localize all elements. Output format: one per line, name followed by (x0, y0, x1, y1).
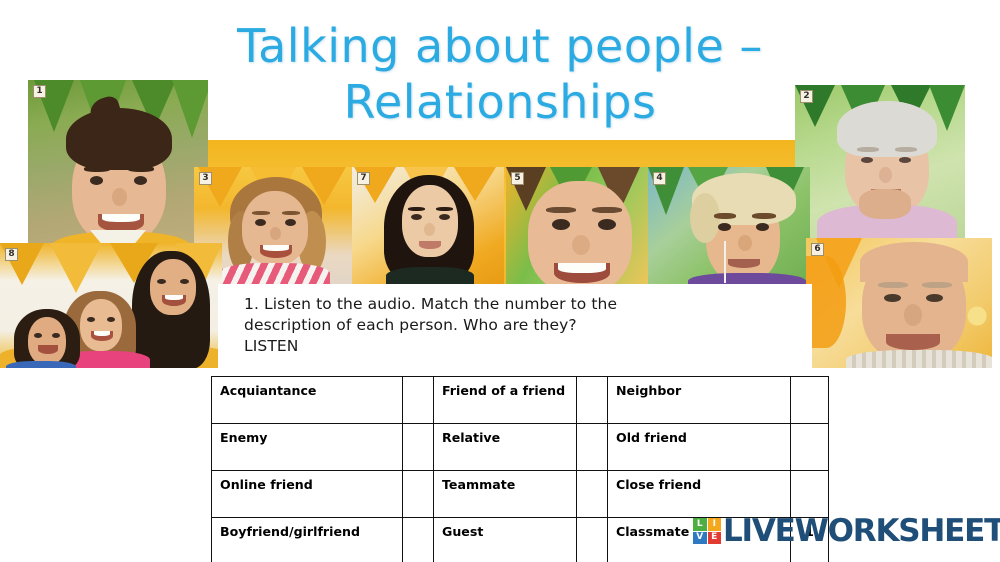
answer-cell[interactable] (791, 471, 829, 518)
answer-cell[interactable] (791, 424, 829, 471)
logo-letter-v: V (693, 532, 707, 545)
answer-cell[interactable] (577, 377, 608, 424)
logo-letter-e: E (708, 532, 722, 545)
person-face (648, 167, 810, 285)
term-cell: Teammate (434, 471, 577, 518)
person-face (352, 167, 504, 285)
answer-cell[interactable] (403, 518, 434, 562)
table-row: Acquiantance Friend of a friend Neighbor (212, 377, 829, 424)
photo-tile-8: 8 (0, 243, 222, 368)
page-title-line-2: Relationships (150, 74, 850, 130)
liveworksheets-logo-icon: L I V E (693, 518, 721, 544)
term-cell: Friend of a friend (434, 377, 577, 424)
term-cell: Acquiantance (212, 377, 403, 424)
photo-badge-6: 6 (811, 243, 824, 256)
answer-cell[interactable] (577, 471, 608, 518)
term-cell: Online friend (212, 471, 403, 518)
term-cell: Enemy (212, 424, 403, 471)
instruction-line-1: 1. Listen to the audio. Match the number… (244, 294, 812, 315)
answer-cell[interactable] (403, 424, 434, 471)
instruction-line-3: LISTEN (244, 336, 812, 357)
logo-letter-i: I (708, 518, 722, 531)
term-cell: Close friend (608, 471, 791, 518)
answer-cell[interactable] (791, 377, 829, 424)
table-row: Online friend Teammate Close friend (212, 471, 829, 518)
photo-tile-4: 4 (648, 167, 810, 285)
answer-cell[interactable] (403, 471, 434, 518)
instruction-panel: 1. Listen to the audio. Match the number… (218, 284, 812, 368)
term-cell: Guest (434, 518, 577, 562)
person-face (506, 167, 648, 285)
page-title: Talking about people – Relationships (150, 18, 850, 130)
photo-tile-5: 5 (506, 167, 648, 285)
person-face (806, 238, 992, 368)
photo-badge-5: 5 (511, 172, 524, 185)
logo-letter-l: L (693, 518, 707, 531)
photo-badge-7: 7 (357, 172, 370, 185)
photo-badge-4: 4 (653, 172, 666, 185)
photo-badge-1: 1 (33, 85, 46, 98)
table-row: Enemy Relative Old friend (212, 424, 829, 471)
photo-tile-7: 7 (352, 167, 504, 285)
photo-badge-3: 3 (199, 172, 212, 185)
person-group (0, 243, 222, 368)
answer-cell[interactable] (577, 424, 608, 471)
answer-cell[interactable] (403, 377, 434, 424)
term-cell: Neighbor (608, 377, 791, 424)
term-cell: Boyfriend/girlfriend (212, 518, 403, 562)
photo-tile-6: 6 (806, 238, 992, 368)
instruction-line-2: description of each person. Who are they… (244, 315, 812, 336)
answer-cell[interactable] (577, 518, 608, 562)
worksheet-page: Talking about people – Relationships 1 (0, 0, 1000, 562)
term-cell: Old friend (608, 424, 791, 471)
photo-badge-8: 8 (5, 248, 18, 261)
liveworksheets-watermark: L I V E LIVEWORKSHEETS (693, 514, 1000, 548)
term-cell: Relative (434, 424, 577, 471)
liveworksheets-wordmark: LIVEWORKSHEETS (723, 516, 1000, 547)
page-title-line-1: Talking about people – (150, 18, 850, 74)
